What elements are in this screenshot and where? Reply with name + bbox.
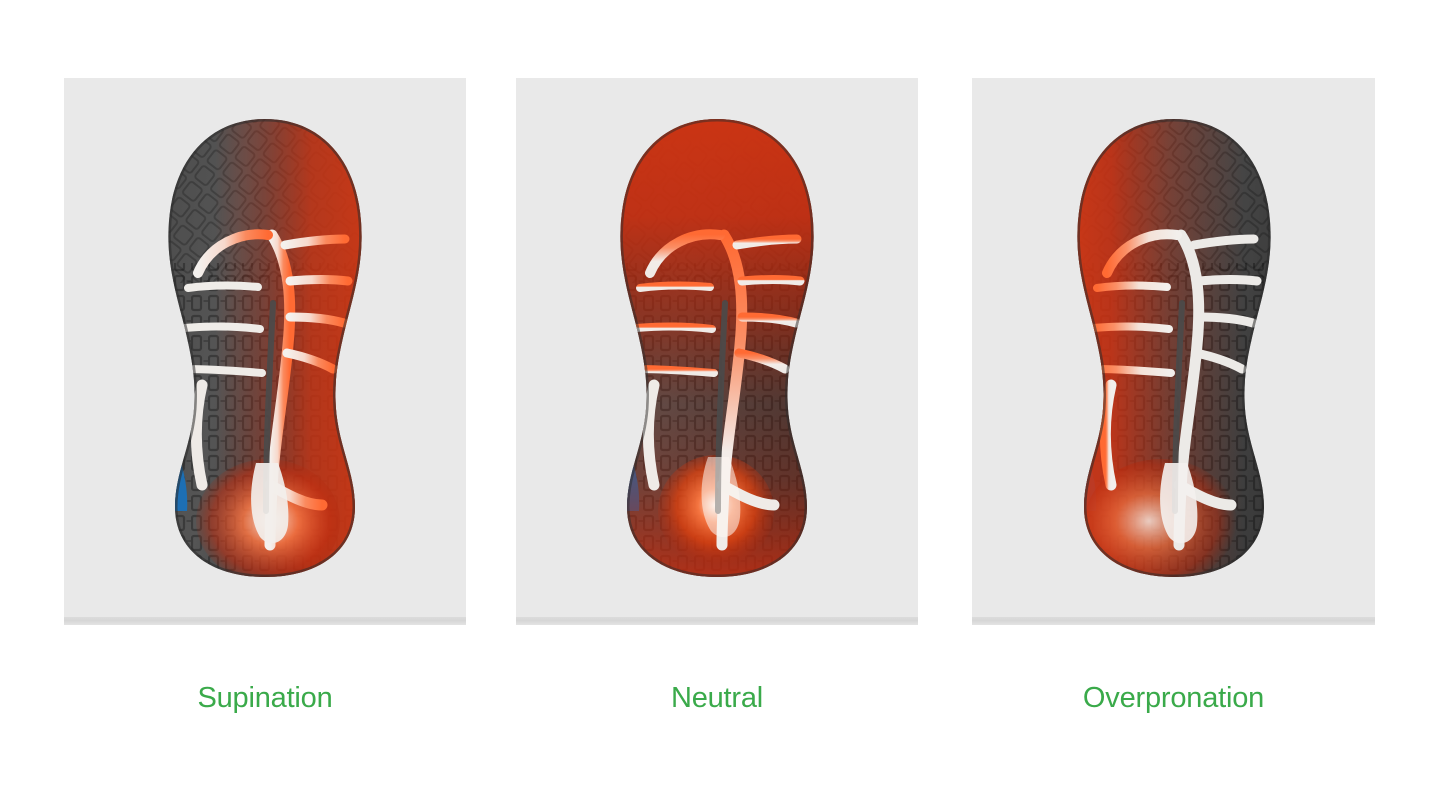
- card-shadow-strip: [516, 617, 918, 625]
- shoe-sole-image-overpronation: [1049, 113, 1299, 583]
- shoe-card-overpronation[interactable]: [972, 78, 1375, 617]
- card-shadow-strip: [972, 617, 1375, 625]
- caption-supination: Supination: [64, 678, 466, 718]
- card-shadow-strip: [64, 617, 466, 625]
- shoe-card-neutral[interactable]: [516, 78, 918, 617]
- shoe-sole-image-supination: [140, 113, 390, 583]
- shoe-sole-image-neutral: [592, 113, 842, 583]
- caption-overpronation: Overpronation: [972, 678, 1375, 718]
- shoe-card-supination[interactable]: [64, 78, 466, 617]
- comparison-figure: Supination Neutral Overpronation: [0, 0, 1440, 793]
- caption-neutral: Neutral: [516, 678, 918, 718]
